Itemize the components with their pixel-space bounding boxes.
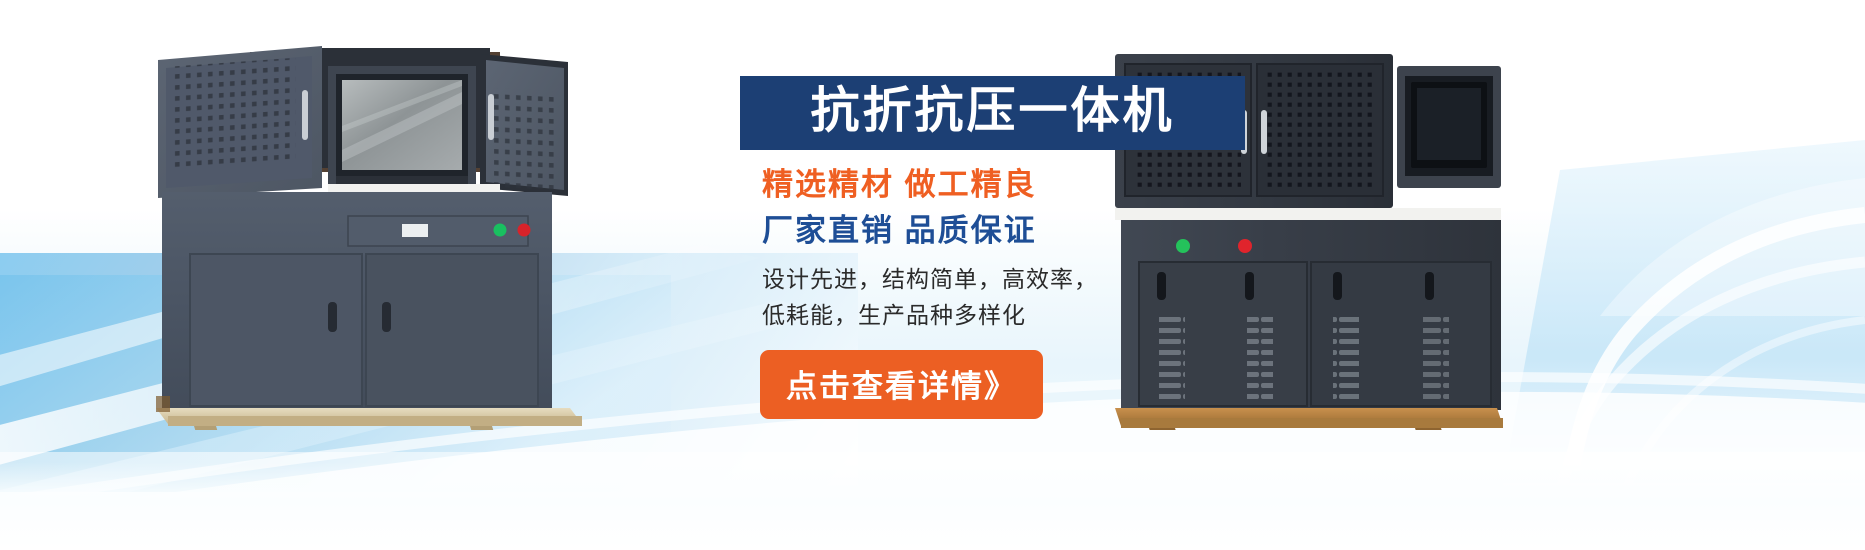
product-image-left-machine	[150, 40, 600, 430]
left-door-panel	[158, 46, 322, 198]
main-cabinet	[162, 192, 552, 410]
description-line-1: 设计先进，结构简单，高效率，	[762, 262, 1260, 298]
description-text: 设计先进，结构简单，高效率， 低耗能，生产品种多样化	[740, 262, 1260, 333]
description-line-2: 低耗能，生产品种多样化	[762, 298, 1260, 334]
promo-banner: 抗折抗压一体机 精选精材 做工精良 厂家直销 品质保证 设计先进，结构简单，高效…	[0, 0, 1865, 550]
subtitle-orange: 精选精材 做工精良	[740, 166, 1260, 205]
headline-bar: 抗折抗压一体机	[740, 76, 1245, 150]
right-door-panel	[480, 54, 568, 196]
marketing-copy-block: 抗折抗压一体机 精选精材 做工精良 厂家直销 品质保证 设计先进，结构简单，高效…	[740, 76, 1260, 419]
subtitle-blue: 厂家直销 品质保证	[740, 212, 1260, 251]
power-indicator-green	[494, 224, 507, 237]
page-title: 抗折抗压一体机	[774, 86, 1211, 138]
control-screen	[328, 66, 476, 186]
view-details-button[interactable]: 点击查看详情》	[760, 350, 1043, 419]
stop-indicator-red	[518, 224, 531, 237]
monitor-housing	[1397, 66, 1501, 188]
background-bottom-fade	[0, 462, 1865, 550]
